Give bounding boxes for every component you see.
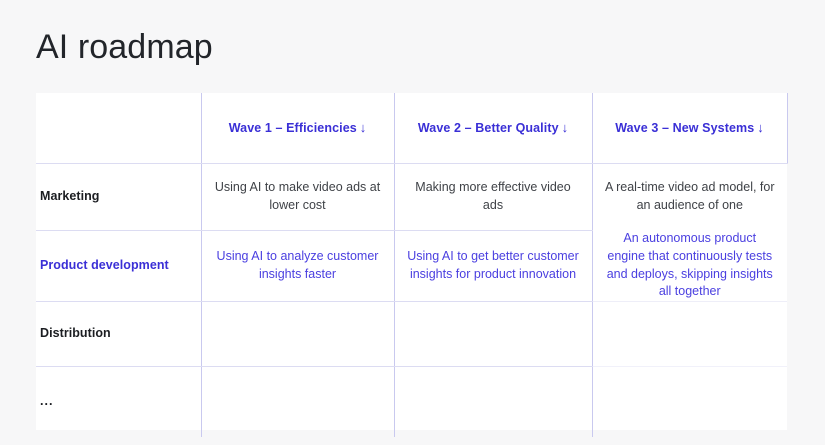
table-row: ... [36, 367, 787, 437]
cell-marketing-wave-3[interactable]: A real-time video ad model, for an audie… [592, 163, 787, 230]
row-label-marketing: Marketing [36, 163, 201, 230]
table-row: Distribution [36, 302, 787, 367]
header-corner-cell [36, 93, 201, 163]
roadmap-table-card: Wave 1 – Efficiencies↓ Wave 2 – Better Q… [36, 93, 787, 430]
row-label-product-development: Product development [36, 230, 201, 302]
cell-distribution-wave-2[interactable] [394, 302, 592, 367]
cell-distribution-wave-3[interactable] [592, 302, 787, 367]
column-header-wave-3-label: Wave 3 – New Systems [615, 121, 754, 135]
column-header-wave-3[interactable]: Wave 3 – New Systems↓ [592, 93, 787, 163]
row-label-more: ... [36, 367, 201, 437]
cell-more-wave-3[interactable] [592, 367, 787, 437]
table-row: Marketing Using AI to make video ads at … [36, 163, 787, 230]
cell-more-wave-2[interactable] [394, 367, 592, 437]
row-label-distribution: Distribution [36, 302, 201, 367]
cell-more-wave-1[interactable] [201, 367, 394, 437]
column-header-wave-1[interactable]: Wave 1 – Efficiencies↓ [201, 93, 394, 163]
roadmap-table: Wave 1 – Efficiencies↓ Wave 2 – Better Q… [36, 93, 788, 437]
cell-text: Using AI to get better customer insights… [407, 248, 580, 284]
cell-text: Making more effective video ads [407, 179, 580, 215]
slide-root: AI roadmap Wave 1 – Efficiencies↓ Wave 2… [0, 0, 825, 445]
cell-distribution-wave-1[interactable] [201, 302, 394, 367]
cell-text: Using AI to analyze customer insights fa… [214, 248, 382, 284]
cell-marketing-wave-1[interactable]: Using AI to make video ads at lower cost [201, 163, 394, 230]
arrow-down-icon: ↓ [562, 121, 569, 134]
header-row: Wave 1 – Efficiencies↓ Wave 2 – Better Q… [36, 93, 787, 163]
column-header-wave-2-label: Wave 2 – Better Quality [418, 121, 559, 135]
cell-text: An autonomous product engine that contin… [605, 230, 776, 301]
arrow-down-icon: ↓ [757, 121, 764, 134]
cell-product-development-wave-2[interactable]: Using AI to get better customer insights… [394, 230, 592, 302]
cell-product-development-wave-3[interactable]: An autonomous product engine that contin… [592, 230, 787, 302]
table-row: Product development Using AI to analyze … [36, 230, 787, 302]
arrow-down-icon: ↓ [360, 121, 367, 134]
cell-text: Using AI to make video ads at lower cost [214, 179, 382, 215]
table-header: Wave 1 – Efficiencies↓ Wave 2 – Better Q… [36, 93, 787, 163]
cell-marketing-wave-2[interactable]: Making more effective video ads [394, 163, 592, 230]
cell-text: A real-time video ad model, for an audie… [605, 179, 776, 215]
page-title: AI roadmap [36, 27, 213, 68]
table-body: Marketing Using AI to make video ads at … [36, 163, 787, 437]
column-header-wave-1-label: Wave 1 – Efficiencies [229, 121, 357, 135]
cell-product-development-wave-1[interactable]: Using AI to analyze customer insights fa… [201, 230, 394, 302]
column-header-wave-2[interactable]: Wave 2 – Better Quality↓ [394, 93, 592, 163]
